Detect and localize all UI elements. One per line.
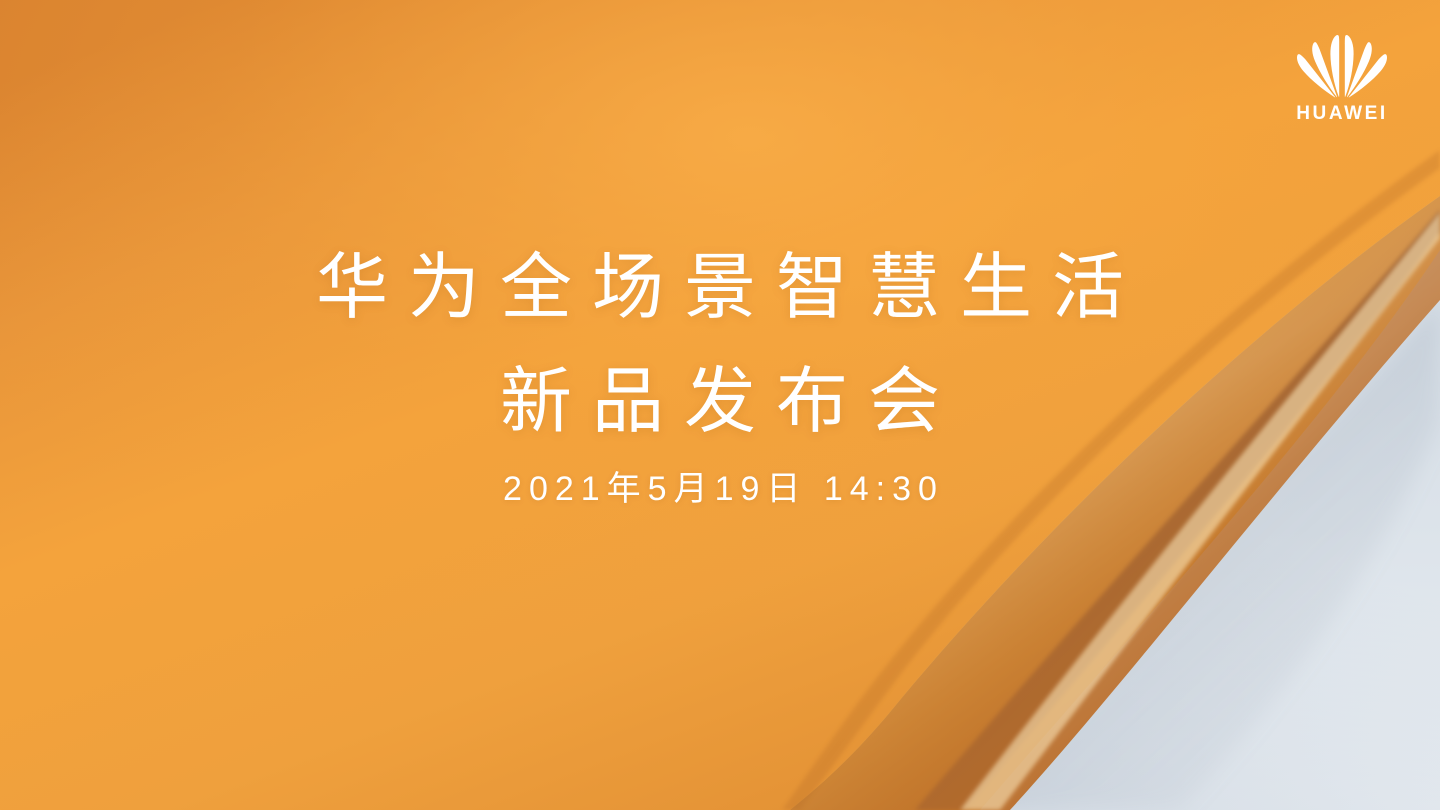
- poster-copy: 华为全场景智慧生活 新品发布会 2021年5月19日 14:30: [0, 252, 1440, 506]
- brand-logo: HUAWEI: [1282, 34, 1402, 123]
- poster-canvas: HUAWEI 华为全场景智慧生活 新品发布会 2021年5月19日 14:30: [0, 0, 1440, 810]
- huawei-wordmark: HUAWEI: [1296, 104, 1388, 123]
- headline-line-2: 新品发布会: [0, 366, 1440, 438]
- huawei-flower-icon: [1294, 34, 1390, 98]
- headline-line-1: 华为全场景智慧生活: [0, 252, 1440, 324]
- event-datetime: 2021年5月19日 14:30: [0, 472, 1440, 506]
